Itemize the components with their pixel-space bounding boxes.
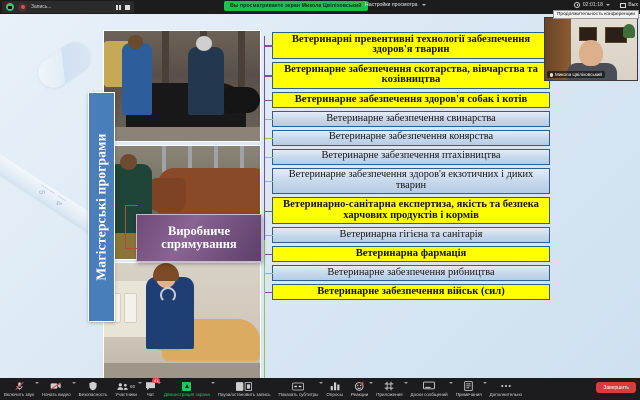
toolbar-button-participants[interactable]: 60Участники [111, 378, 141, 400]
captions-icon [292, 381, 304, 391]
connector-line [265, 157, 273, 158]
program-box: Ветеринарне забезпечення рибництва [272, 265, 550, 281]
toolbar-button-whiteboard[interactable]: Доски сообщений [407, 378, 452, 400]
top-bar: Запись... Вы просматриваете экран Микола… [0, 0, 640, 14]
photo-barn-cow [103, 30, 261, 142]
toolbar-button-label: Примечания [456, 392, 482, 397]
share-screen-icon [182, 381, 191, 391]
bottom-toolbar: Включить звукНачать видеоБезопасность60У… [0, 378, 640, 400]
toolbar-button-more-dots[interactable]: Дополнительно [486, 378, 526, 400]
program-box-label: Ветеринарно-санітарна експертиза, якість… [283, 199, 539, 221]
program-box-label: Ветеринарне забезпечення здоров'я екзоти… [289, 169, 534, 191]
program-box-label: Ветеринарне забезпечення військ (сил) [317, 286, 505, 297]
toolbar-button-chat[interactable]: 41Чат [141, 378, 160, 400]
toolbar-button-notes[interactable]: Примечания [452, 378, 486, 400]
connector-line [265, 75, 273, 76]
toolbar-button-label: Реакции [351, 392, 368, 397]
apps-icon [384, 381, 394, 391]
shield-icon [88, 381, 98, 391]
recording-status-label: Запись... [31, 4, 112, 10]
toolbar-button-polls[interactable]: Опросы [322, 378, 346, 400]
zoom-logo-icon [6, 3, 14, 11]
connector-line [265, 181, 273, 182]
connector-line [265, 119, 273, 120]
program-box: Ветеринарне забезпечення військ (сил) [272, 284, 550, 300]
toolbar-button-label: Показать субтитры [279, 392, 319, 397]
toolbar-button-reactions[interactable]: Реакции [347, 378, 372, 400]
badge-line-2: спрямування [161, 237, 236, 251]
program-box-label: Ветеринарне забезпечення рибництва [327, 267, 494, 278]
program-box: Ветеринарно-санітарна експертиза, якість… [272, 197, 550, 224]
toolbar-button-share-screen[interactable]: Демонстрация экрана [160, 378, 214, 400]
whiteboard-icon [423, 381, 435, 391]
chat-icon: 41 [145, 381, 156, 391]
production-direction-badge: Виробниче спрямування [136, 214, 262, 262]
exit-label: Вых [628, 2, 638, 8]
toolbar-button-camera-muted[interactable]: Начать видео [38, 378, 75, 400]
program-box-label: Ветеринарне забезпечення конярства [329, 131, 493, 142]
participant-name-label: Микола Цвіліховський [547, 71, 605, 78]
participant-name-text: Микола Цвіліховський [555, 72, 602, 77]
pause-recording-icon[interactable] [116, 5, 121, 10]
toolbar-button-microphone-muted[interactable]: Включить звук [0, 378, 38, 400]
connector-line [265, 292, 273, 293]
more-dots-icon [500, 381, 512, 391]
participants-icon: 60 [117, 381, 135, 391]
toolbar-button-label: Включить звук [4, 392, 34, 397]
toolbar-button-shield[interactable]: Безопасность [75, 378, 112, 400]
vertical-title-label: Магістерські програми [94, 133, 110, 280]
timer-value: 02:01:18 [583, 2, 603, 8]
connector-spine-green [264, 240, 265, 378]
chevron-down-icon [422, 4, 426, 6]
view-options-label: Настройки просмотра [365, 2, 418, 8]
program-box-label: Ветеринарна гігієна та санітарія [340, 229, 483, 240]
connector-line [265, 254, 273, 255]
pause-stop-recording-icon [236, 381, 252, 391]
polls-icon [330, 381, 340, 391]
recording-indicator-icon [18, 3, 27, 12]
toolbar-button-label: Дополнительно [490, 392, 522, 397]
toolbar-button-label: Участники [115, 392, 137, 397]
program-box-label: Ветеринарне забезпечення здоров'я собак … [295, 94, 528, 105]
chevron-down-icon [606, 4, 610, 6]
program-box: Ветеринарна гігієна та санітарія [272, 227, 550, 243]
program-box: Ветеринарне забезпечення здоров'я собак … [272, 92, 550, 108]
photo-vet-dog [103, 262, 261, 378]
recording-control-pill[interactable]: Запись... [2, 1, 134, 13]
program-box: Ветеринарне забезпечення конярства [272, 130, 550, 146]
reactions-icon [354, 381, 365, 391]
connector-line [265, 100, 273, 101]
badge-line-1: Виробниче [168, 224, 230, 238]
capsule-watermark-icon [33, 36, 96, 93]
toolbar-button-label: Доски сообщений [411, 392, 448, 397]
connector-line [265, 211, 273, 212]
toolbar-button-label: Безопасность [79, 392, 108, 397]
connector-line [265, 235, 273, 236]
toolbar-button-pause-stop-recording[interactable]: Пауза/остановить запись [214, 378, 275, 400]
slide-vertical-title: Магістерські програми [88, 92, 115, 322]
view-options-button[interactable]: Настройки просмотра [365, 2, 426, 8]
program-box-label: Ветеринарні превентивні технології забез… [292, 34, 530, 56]
participants-count: 60 [130, 384, 135, 389]
connector-line [265, 273, 273, 274]
toolbar-button-apps[interactable]: Приложения [372, 378, 406, 400]
toolbar-button-captions[interactable]: Показать субтитры [275, 378, 323, 400]
microphone-icon [550, 73, 553, 77]
end-meeting-button[interactable]: Завершить [596, 382, 636, 393]
exit-icon [620, 3, 626, 8]
program-box-label: Ветеринарна фармація [356, 248, 467, 259]
plant-icon [623, 24, 635, 38]
program-box-label: Ветеринарне забезпечення свинарства [326, 113, 496, 124]
timer-tooltip: Продолжительность конференции [553, 10, 639, 19]
program-box: Ветеринарне забезпечення птахівництва [272, 149, 550, 165]
photo-collage: wiseGEEK [103, 30, 263, 378]
program-box: Ветеринарна фармація [272, 246, 550, 262]
program-box: Ветеринарне забезпечення здоров'я екзоти… [272, 168, 550, 194]
stop-recording-icon[interactable] [125, 5, 130, 10]
toolbar-button-label: Начать видео [42, 392, 71, 397]
program-box: Ветеринарне забезпечення скотарства, вів… [272, 62, 550, 89]
exit-fullscreen-button[interactable]: Вых [620, 2, 638, 8]
connector-line [265, 45, 273, 46]
toolbar-button-label: Опросы [326, 392, 342, 397]
toolbar-button-label: Чат [147, 392, 154, 397]
program-box: Ветеринарне забезпечення свинарства [272, 111, 550, 127]
screen-share-banner: Вы просматриваете экран Микола Цвіліховс… [224, 1, 368, 11]
connector-line [265, 138, 273, 139]
program-box: Ветеринарні превентивні технології забез… [272, 32, 550, 59]
camera-muted-icon [50, 381, 62, 391]
toolbar-button-label: Приложения [376, 392, 402, 397]
microphone-muted-icon [14, 381, 25, 391]
meeting-timer[interactable]: 02:01:18 [574, 2, 610, 8]
toolbar-button-label: Демонстрация экрана [164, 392, 210, 397]
participant-video-tile[interactable]: Микола Цвіліховський [544, 17, 638, 81]
zoom-meeting-window: Запись... Вы просматриваете экран Микола… [0, 0, 640, 400]
clock-icon [574, 2, 580, 8]
toolbar-button-label: Пауза/остановить запись [218, 392, 271, 397]
program-box-label: Ветеринарне забезпечення птахівництва [322, 150, 501, 161]
program-box-label: Ветеринарне забезпечення скотарства, вів… [284, 64, 538, 86]
program-list: Ветеринарні превентивні технології забез… [272, 32, 550, 300]
notes-icon [464, 381, 473, 391]
